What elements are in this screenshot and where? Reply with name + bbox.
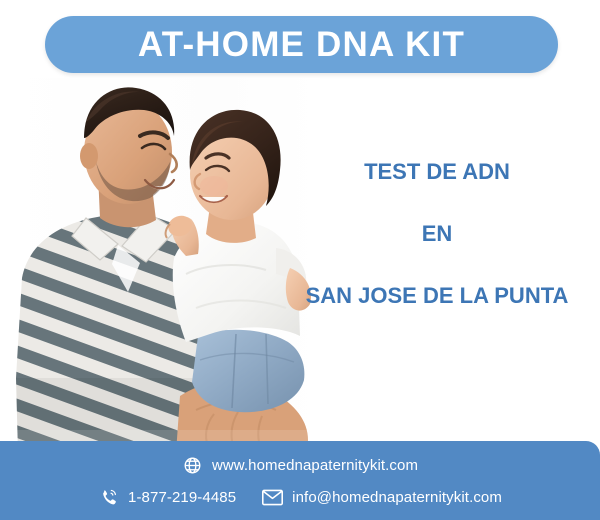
- envelope-icon: [262, 487, 283, 508]
- footer-contact-bar: www.homednapaternitykit.com 1-877-219-44…: [0, 441, 600, 520]
- footer-website-text: www.homednapaternitykit.com: [212, 457, 418, 474]
- phone-icon: [98, 487, 119, 508]
- header-banner: AT-HOME DNA KIT: [45, 16, 558, 73]
- page-title: AT-HOME DNA KIT: [138, 27, 465, 62]
- footer-phone-text: 1-877-219-4485: [128, 489, 236, 506]
- headline-line-service: TEST DE ADN: [278, 160, 596, 184]
- headline-block: TEST DE ADN EN SAN JOSE DE LA PUNTA: [278, 160, 596, 309]
- father-and-child-photo: [0, 78, 320, 453]
- footer-contact-row: 1-877-219-4485 info@homednapaternitykit.…: [0, 483, 600, 511]
- footer-phone-item[interactable]: 1-877-219-4485: [98, 487, 236, 508]
- footer-website-item[interactable]: www.homednapaternitykit.com: [182, 455, 418, 476]
- footer-email-item[interactable]: info@homednapaternitykit.com: [262, 487, 502, 508]
- headline-line-connector: EN: [278, 222, 596, 246]
- footer-email-text: info@homednapaternitykit.com: [292, 489, 502, 506]
- headline-line-location: SAN JOSE DE LA PUNTA: [278, 284, 596, 308]
- footer-website-row: www.homednapaternitykit.com: [0, 451, 600, 479]
- globe-icon: [182, 455, 203, 476]
- poster-root: AT-HOME DNA KIT: [0, 0, 600, 520]
